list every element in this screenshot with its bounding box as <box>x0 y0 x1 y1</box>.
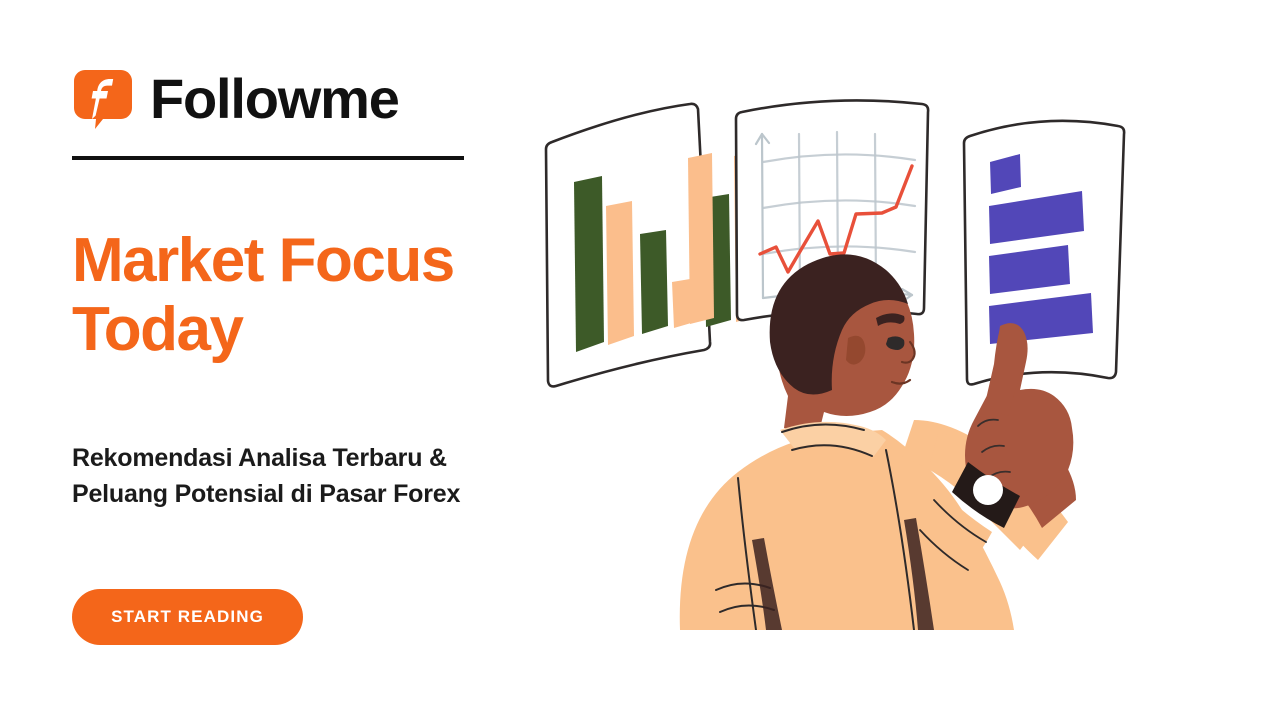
followme-speech-bubble-f-icon <box>72 68 134 130</box>
start-reading-button[interactable]: START READING <box>72 589 303 645</box>
content-column: Followme Market FocusToday Rekomendasi A… <box>0 0 600 720</box>
man-analyzing-charts-illustration <box>530 90 1170 630</box>
market-focus-banner: Followme Market FocusToday Rekomendasi A… <box>0 0 1280 720</box>
purple-blocks-panel <box>964 121 1124 385</box>
page-title: Market FocusToday <box>72 226 572 365</box>
illustration-column <box>600 0 1280 720</box>
subtitle: Rekomendasi Analisa Terbaru &Peluang Pot… <box>72 440 572 513</box>
subtitle-line-2: Peluang Potensial di Pasar Forex <box>72 480 460 508</box>
brand-lockup: Followme <box>72 68 399 130</box>
subtitle-line-1: Rekomendasi Analisa Terbaru & <box>72 444 447 472</box>
headline-line-1: Market Focus <box>72 226 454 295</box>
headline-line-2: Today <box>72 295 242 364</box>
brand-divider <box>72 156 464 160</box>
watch-face <box>973 475 1003 505</box>
bar-chart-panel <box>546 104 760 387</box>
brand-wordmark: Followme <box>150 71 399 127</box>
